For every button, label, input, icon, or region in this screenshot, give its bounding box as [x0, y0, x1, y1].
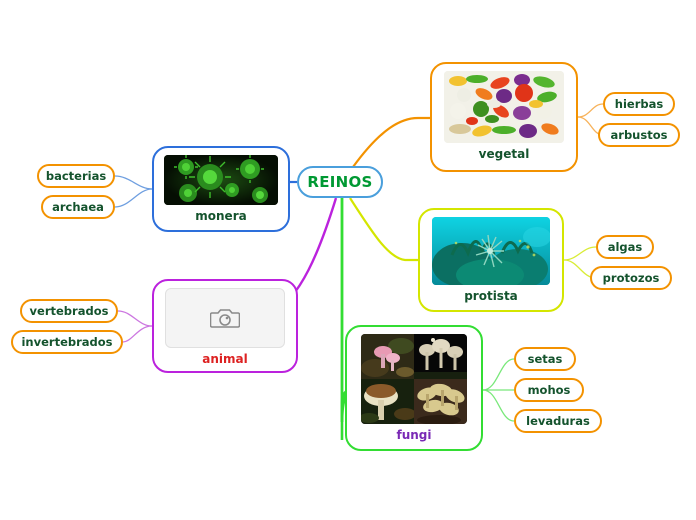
animal-image-placeholder [165, 288, 285, 348]
mindmap-canvas: monera bacterias archaea [0, 0, 696, 520]
vegetal-label: vegetal [479, 147, 530, 161]
node-animal[interactable]: animal [152, 279, 298, 373]
edge-animal-invertebrados [123, 326, 152, 342]
edge-vegetal-hierbas [578, 104, 603, 117]
edge-center-vegetal [353, 118, 430, 167]
node-vegetal[interactable]: vegetal [430, 62, 578, 172]
leaf-vertebrados-label: vertebrados [30, 304, 109, 318]
leaf-levaduras[interactable]: levaduras [514, 409, 602, 433]
leaf-mohos[interactable]: mohos [514, 378, 584, 402]
monera-thumbnail [164, 155, 278, 205]
leaf-algas-label: algas [608, 240, 643, 254]
leaf-algas[interactable]: algas [596, 235, 654, 259]
leaf-protozos[interactable]: protozos [590, 266, 672, 290]
leaf-mohos-label: mohos [528, 383, 571, 397]
edge-center-protista [350, 198, 418, 260]
leaf-hierbas[interactable]: hierbas [603, 92, 675, 116]
node-monera[interactable]: monera [152, 146, 290, 232]
protista-thumbnail [432, 217, 550, 285]
center-label: REINOS [307, 173, 372, 191]
edge-monera-bacterias [115, 176, 152, 189]
camera-icon [210, 306, 240, 330]
leaf-archaea[interactable]: archaea [41, 195, 115, 219]
leaf-vertebrados[interactable]: vertebrados [20, 299, 118, 323]
leaf-invertebrados[interactable]: invertebrados [11, 330, 123, 354]
leaf-bacterias[interactable]: bacterias [37, 164, 115, 188]
node-fungi[interactable]: fungi [345, 325, 483, 451]
leaf-arbustos-label: arbustos [611, 128, 668, 142]
edge-fungi-setas [483, 359, 514, 390]
edge-protista-algas [564, 247, 596, 260]
node-protista[interactable]: protista [418, 208, 564, 312]
fungi-label: fungi [396, 428, 431, 442]
animal-label: animal [202, 352, 247, 366]
leaf-setas-label: setas [528, 352, 563, 366]
protista-label: protista [464, 289, 518, 303]
leaf-setas[interactable]: setas [514, 347, 576, 371]
leaf-invertebrados-label: invertebrados [21, 335, 112, 349]
leaf-levaduras-label: levaduras [526, 414, 590, 428]
fungi-thumbnail [361, 334, 467, 424]
edge-monera-archaea [115, 189, 152, 207]
leaf-archaea-label: archaea [52, 200, 104, 214]
leaf-arbustos[interactable]: arbustos [598, 123, 680, 147]
leaf-hierbas-label: hierbas [615, 97, 663, 111]
vegetal-thumbnail [444, 71, 564, 143]
leaf-protozos-label: protozos [603, 271, 660, 285]
monera-label: monera [195, 209, 246, 223]
node-reinos-center[interactable]: REINOS [297, 166, 383, 198]
edge-animal-vertebrados [118, 311, 152, 326]
leaf-bacterias-label: bacterias [46, 169, 106, 183]
edge-fungi-levaduras [483, 390, 514, 421]
